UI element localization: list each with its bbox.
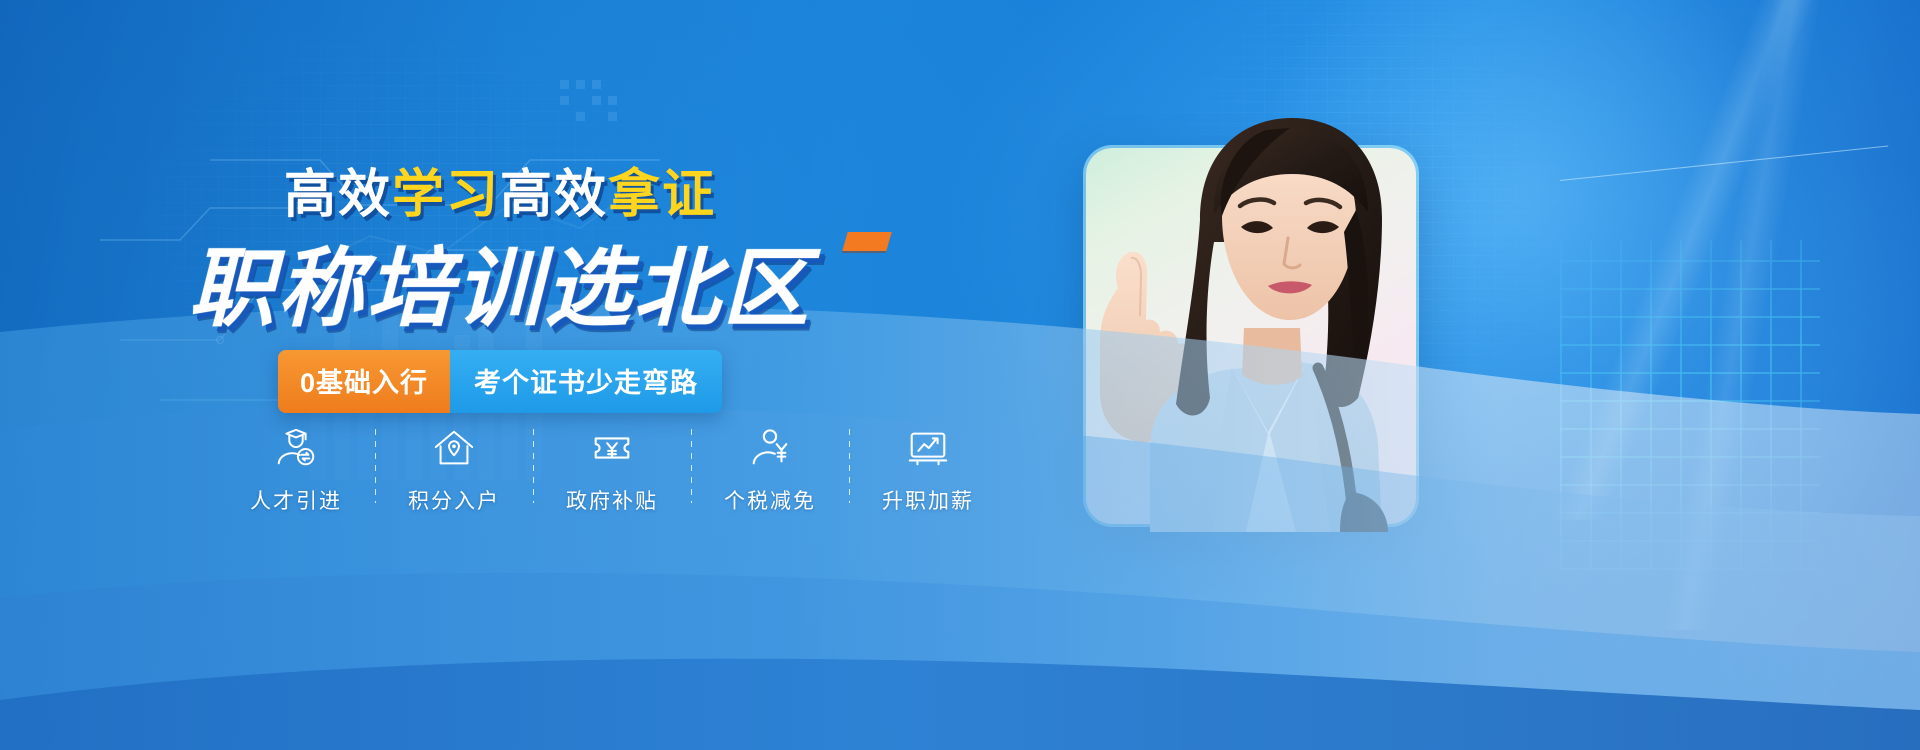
copy-block: 高效学习高效拿证 职称培训选北区 0基础入行 考个证书少走弯路 bbox=[0, 0, 1000, 750]
headline-main-text: 职称培训选北区 bbox=[189, 241, 812, 337]
feature-item-household[interactable]: 积分入户 bbox=[390, 425, 518, 515]
feature-item-talent[interactable]: 人才引进 bbox=[232, 425, 360, 515]
headline-main-wrap: 职称培训选北区 bbox=[0, 218, 1000, 343]
headline-top-seg-3: 高效 bbox=[500, 166, 608, 224]
person-yuan-icon bbox=[747, 425, 793, 471]
badge-row: 0基础入行 考个证书少走弯路 bbox=[0, 350, 1000, 413]
feature-label: 积分入户 bbox=[408, 485, 500, 515]
headline-top-seg-1: 高效 bbox=[284, 166, 392, 224]
feature-divider bbox=[375, 429, 376, 503]
badge-primary[interactable]: 0基础入行 bbox=[278, 350, 450, 413]
feature-label: 升职加薪 bbox=[882, 485, 974, 515]
feature-item-tax[interactable]: 个税减免 bbox=[706, 425, 834, 515]
badge-group: 0基础入行 考个证书少走弯路 bbox=[278, 350, 722, 413]
feature-label: 个税减免 bbox=[724, 485, 816, 515]
promo-banner: 高效学习高效拿证 职称培训选北区 0基础入行 考个证书少走弯路 bbox=[0, 0, 1920, 750]
yuan-ticket-icon bbox=[589, 425, 635, 471]
feature-list: 人才引进 积分入户 bbox=[232, 425, 992, 515]
house-pin-icon bbox=[431, 425, 477, 471]
feature-item-subsidy[interactable]: 政府补贴 bbox=[548, 425, 676, 515]
headline-top: 高效学习高效拿证 bbox=[0, 152, 1000, 227]
feature-divider bbox=[533, 429, 534, 503]
growth-chart-icon bbox=[905, 425, 951, 471]
headline-top-seg-2: 学习 bbox=[392, 166, 500, 224]
feature-item-promotion[interactable]: 升职加薪 bbox=[864, 425, 992, 515]
headline-main: 职称培训选北区 bbox=[189, 218, 812, 343]
feature-divider bbox=[691, 429, 692, 503]
badge-secondary[interactable]: 考个证书少走弯路 bbox=[450, 350, 722, 413]
graduate-person-icon bbox=[273, 425, 319, 471]
headline-top-seg-4: 拿证 bbox=[608, 166, 716, 224]
orange-accent-slab bbox=[842, 232, 891, 251]
feature-label: 人才引进 bbox=[250, 485, 342, 515]
feature-divider bbox=[849, 429, 850, 503]
feature-label: 政府补贴 bbox=[566, 485, 658, 515]
